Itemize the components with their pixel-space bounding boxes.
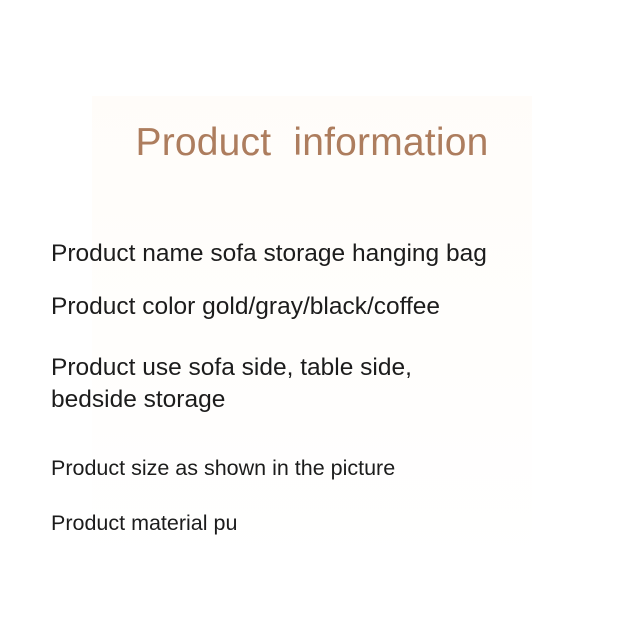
spec-row-product-name: Product name sofa storage hanging bag bbox=[51, 238, 591, 270]
spec-row-product-material: Product material pu bbox=[51, 508, 591, 538]
page-title: Product information bbox=[0, 118, 624, 168]
spec-list: Product name sofa storage hanging bag Pr… bbox=[51, 238, 591, 538]
spec-row-product-use: Product use sofa side, table side, bedsi… bbox=[51, 352, 591, 416]
spec-row-product-size: Product size as shown in the picture bbox=[51, 453, 591, 483]
spec-row-product-color: Product color gold/gray/black/coffee bbox=[51, 291, 591, 323]
product-information-page: Product information Product name sofa st… bbox=[0, 0, 624, 624]
